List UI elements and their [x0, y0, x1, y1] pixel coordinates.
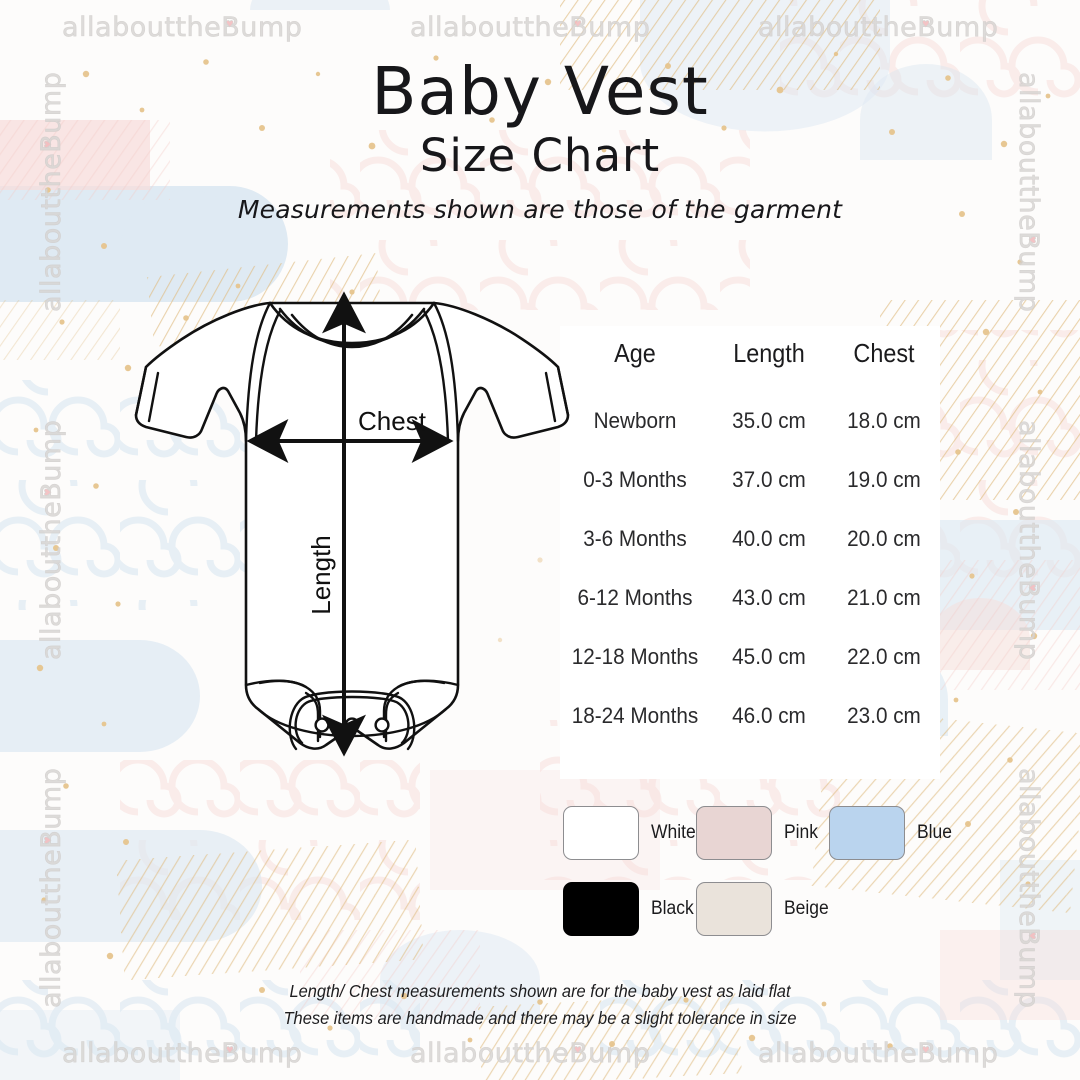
cell-chest: 18.0 cm [832, 391, 935, 450]
cell-length: 43.0 cm [715, 568, 824, 627]
watermark-b-with-heart: B♥ [569, 12, 588, 43]
cell-length: 40.0 cm [715, 509, 824, 568]
cell-length: 45.0 cm [715, 627, 824, 686]
table-row: 6-12 Months 43.0 cm 21.0 cm [560, 568, 940, 627]
size-chart-table: Age Length Chest Newborn 35.0 cm 18.0 cm… [560, 330, 940, 745]
footer-line-2: These items are handmade and there may b… [32, 1005, 1047, 1032]
vest-outline [136, 303, 568, 749]
table-row: 18-24 Months 46.0 cm 23.0 cm [560, 686, 940, 745]
heart-icon: ♥ [1027, 236, 1035, 244]
heart-icon: ♥ [574, 1047, 582, 1055]
watermark-b-with-heart: B♥ [1013, 231, 1044, 250]
cell-age: 12-18 Months [566, 627, 704, 686]
swatch-colour-pink [696, 806, 772, 860]
table-row: 3-6 Months 40.0 cm 20.0 cm [560, 509, 940, 568]
column-header-length: Length [716, 330, 822, 391]
page-footer: Length/ Chest measurements shown are for… [0, 978, 1080, 1031]
baby-vest-illustration: Chest Length [120, 275, 590, 775]
page-header: Baby Vest Size Chart Measurements shown … [0, 58, 1080, 224]
cell-age: 0-3 Months [566, 450, 704, 509]
cell-age: Newborn [566, 391, 704, 450]
table-row: 12-18 Months 45.0 cm 22.0 cm [560, 627, 940, 686]
watermark-text-a: allaboutthe [62, 1038, 221, 1069]
table-body: Newborn 35.0 cm 18.0 cm 0-3 Months 37.0 … [560, 391, 940, 745]
size-chart-page: allabouttheB♥ump allabouttheB♥ump allabo… [0, 0, 1080, 1080]
page-subtitle: Size Chart [0, 131, 1080, 181]
swatch-item-pink: Pink [696, 806, 829, 860]
watermark-text-a: allaboutthe [1013, 420, 1044, 579]
watermark-b-with-heart: B♥ [569, 1038, 588, 1069]
heart-icon: ♥ [226, 21, 234, 29]
watermark-text-a: allaboutthe [758, 12, 917, 43]
cell-chest: 22.0 cm [832, 627, 935, 686]
footer-line-1: Length/ Chest measurements shown are for… [32, 978, 1047, 1005]
heart-icon: ♥ [1027, 584, 1035, 592]
watermark-bottom-1: allabouttheB♥ump [62, 1038, 302, 1069]
snap-button-3 [376, 719, 389, 732]
swatch-label-pink: Pink [784, 822, 818, 844]
watermark-top-3: allabouttheB♥ump [758, 12, 998, 43]
swatch-label-blue: Blue [917, 822, 952, 844]
watermark-text-a: allaboutthe [62, 12, 221, 43]
swatch-label-black: Black [651, 898, 694, 920]
table-row: 0-3 Months 37.0 cm 19.0 cm [560, 450, 940, 509]
watermark-top-2: allabouttheB♥ump [410, 12, 650, 43]
watermark-b-with-heart: B♥ [917, 12, 936, 43]
watermark-bottom-2: allabouttheB♥ump [410, 1038, 650, 1069]
column-header-age: Age [568, 330, 703, 391]
page-tagline: Measurements shown are those of the garm… [0, 195, 1080, 224]
table-row: Newborn 35.0 cm 18.0 cm [560, 391, 940, 450]
table-header-row: Age Length Chest [560, 330, 940, 391]
watermark-text-c: ump [1013, 598, 1044, 660]
watermark-text-c: ump [36, 420, 67, 482]
watermark-b-with-heart: B♥ [221, 12, 240, 43]
watermark-text-a: allaboutthe [1013, 768, 1044, 927]
watermark-text-c: ump [240, 12, 302, 43]
page-title: Baby Vest [0, 58, 1080, 127]
vest-snap-buttons [316, 719, 389, 732]
swatch-item-blue: Blue [829, 806, 962, 860]
swatch-colour-white [563, 806, 639, 860]
cell-chest: 21.0 cm [832, 568, 935, 627]
cell-chest: 20.0 cm [832, 509, 935, 568]
swatch-item-white: White [563, 806, 696, 860]
heart-icon: ♥ [922, 1047, 930, 1055]
watermark-left-3: allabouttheB♥ump [36, 768, 67, 1008]
column-header-chest: Chest [834, 330, 935, 391]
swatch-colour-blue [829, 806, 905, 860]
watermark-right-3: allabouttheB♥ump [1013, 768, 1044, 1008]
heart-icon: ♥ [1027, 932, 1035, 940]
watermark-b-with-heart: B♥ [36, 830, 67, 849]
watermark-text-c: ump [240, 1038, 302, 1069]
cell-length: 46.0 cm [715, 686, 824, 745]
cell-age: 18-24 Months [566, 686, 704, 745]
snap-button-1 [316, 719, 329, 732]
watermark-b-with-heart: B♥ [1013, 927, 1044, 946]
cell-chest: 19.0 cm [832, 450, 935, 509]
cell-chest: 23.0 cm [832, 686, 935, 745]
chest-label: Chest [358, 406, 427, 436]
watermark-b-with-heart: B♥ [1013, 579, 1044, 598]
heart-icon: ♥ [45, 488, 53, 496]
watermark-text-c: ump [1013, 250, 1044, 312]
swatch-label-white: White [651, 822, 696, 844]
watermark-text-c: ump [36, 768, 67, 830]
watermark-top-1: allabouttheB♥ump [62, 12, 302, 43]
cell-length: 37.0 cm [715, 450, 824, 509]
watermark-text-a: allaboutthe [758, 1038, 917, 1069]
swatch-label-beige: Beige [784, 898, 829, 920]
watermark-text-c: ump [936, 1038, 998, 1069]
swatch-item-black: Black [563, 882, 696, 936]
watermark-text-c: ump [588, 12, 650, 43]
colour-swatch-legend: White Pink Blue Black Beige [563, 806, 963, 958]
watermark-text-a: allaboutthe [36, 501, 67, 660]
heart-icon: ♥ [45, 836, 53, 844]
swatch-colour-beige [696, 882, 772, 936]
heart-icon: ♥ [922, 21, 930, 29]
watermark-text-c: ump [936, 12, 998, 43]
heart-icon: ♥ [226, 1047, 234, 1055]
swatch-colour-black [563, 882, 639, 936]
swatch-row-1: White Pink Blue [563, 806, 963, 860]
watermark-bottom-3: allabouttheB♥ump [758, 1038, 998, 1069]
watermark-right-2: allabouttheB♥ump [1013, 420, 1044, 660]
watermark-b-with-heart: B♥ [221, 1038, 240, 1069]
watermark-text-a: allaboutthe [410, 1038, 569, 1069]
cell-age: 6-12 Months [566, 568, 704, 627]
heart-icon: ♥ [574, 21, 582, 29]
cell-length: 35.0 cm [715, 391, 824, 450]
swatch-row-2: Black Beige [563, 882, 963, 936]
watermark-text-a: allaboutthe [410, 12, 569, 43]
length-label: Length [306, 535, 336, 615]
watermark-b-with-heart: B♥ [917, 1038, 936, 1069]
cell-age: 3-6 Months [566, 509, 704, 568]
swatch-item-beige: Beige [696, 882, 829, 936]
watermark-b-with-heart: B♥ [36, 482, 67, 501]
snap-button-2 [346, 719, 359, 732]
watermark-left-2: allabouttheB♥ump [36, 420, 67, 660]
watermark-text-c: ump [588, 1038, 650, 1069]
